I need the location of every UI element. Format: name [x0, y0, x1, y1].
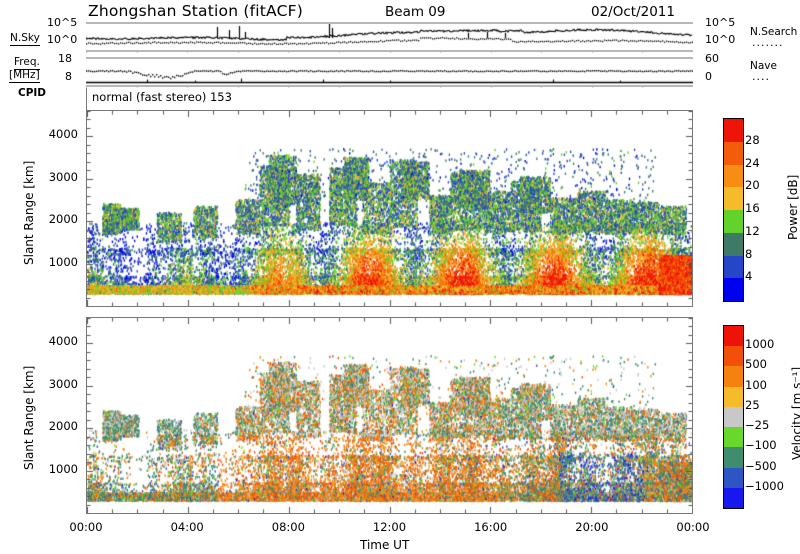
freq-left-label-line2: [MHz] [9, 69, 40, 83]
velocity-colorbar-title: Velocity [m s⁻¹] [790, 367, 800, 460]
nsky-panel [86, 22, 693, 52]
power-colorbar-label: 28 [745, 133, 760, 147]
power-ytick-2000: 2000 [49, 212, 78, 226]
beam-label: Beam 09 [385, 4, 445, 20]
nave-tick-bottom: 0 [705, 70, 712, 83]
power-ytick-labels: 4000300020001000 [38, 110, 82, 307]
page-title: Zhongshan Station (fitACF) [88, 2, 303, 20]
power-colorbar-labels: 282420161284 [723, 118, 783, 300]
power-ytick-3000: 3000 [49, 170, 78, 184]
time-tick-1200: 12:00 [364, 520, 416, 534]
time-axis-ticks: 00:0004:0008:0012:0016:0020:0000:00 [0, 520, 800, 536]
cpid-divider [86, 88, 87, 110]
power-colorbar-label: 16 [745, 201, 760, 215]
date-label: 02/Oct/2011 [591, 4, 675, 20]
nave-linestyle-sample: .... [752, 70, 770, 83]
time-tick-0400: 04:00 [161, 520, 213, 534]
time-tick-1600: 16:00 [465, 520, 517, 534]
nsky-left-label: N.Sky [10, 32, 40, 46]
velocity-ytick-labels: 4000300020001000 [38, 317, 82, 514]
velocity-colorbar-label: 500 [745, 357, 767, 371]
velocity-colorbar-label: 100 [745, 378, 767, 392]
nsearch-tick-top: 10^5 [705, 16, 735, 29]
cpid-text: normal (fast stereo) 153 [92, 90, 232, 104]
power-colorbar-label: 20 [745, 178, 760, 192]
velocity-colorbar-labels: 100050010025−25−100−500−1000 [723, 325, 793, 507]
nsky-tick-top: 10^5 [47, 16, 77, 29]
time-tick-0000: 00:00 [667, 520, 719, 534]
power-colorbar-title: Power [dB] [786, 175, 800, 240]
velocity-colorbar-label: 1000 [745, 337, 774, 351]
velocity-ytick-3000: 3000 [49, 377, 78, 391]
power-panel [86, 110, 693, 307]
velocity-ytick-4000: 4000 [49, 334, 78, 348]
nsky-tick-bottom: 10^0 [47, 33, 77, 46]
power-colorbar-label: 8 [745, 247, 752, 261]
nsearch-linestyle-sample: ....... [752, 36, 783, 49]
freq-tick-bottom: 8 [65, 70, 72, 83]
velocity-colorbar-label: −25 [745, 418, 769, 432]
time-tick-0800: 08:00 [262, 520, 314, 534]
radar-summary-plot: Zhongshan Station (fitACF) Beam 09 02/Oc… [0, 0, 800, 554]
velocity-colorbar-label: −500 [745, 459, 777, 473]
time-tick-2000: 20:00 [566, 520, 618, 534]
power-ylabel: Slant Range [km] [22, 161, 36, 265]
velocity-panel [86, 317, 693, 514]
time-axis-label: Time UT [360, 538, 409, 552]
freq-left-label-line1: Freq. [14, 56, 40, 70]
power-ytick-4000: 4000 [49, 127, 78, 141]
power-colorbar-label: 12 [745, 224, 760, 238]
power-ytick-1000: 1000 [49, 255, 78, 269]
cpid-left-label: CPID [18, 87, 46, 99]
velocity-colorbar-label: −1000 [745, 479, 784, 493]
freq-tick-top: 18 [58, 52, 72, 65]
velocity-ytick-2000: 2000 [49, 419, 78, 433]
power-colorbar-label: 4 [745, 269, 752, 283]
nsearch-tick-bottom: 10^0 [705, 33, 735, 46]
power-colorbar-label: 24 [745, 156, 760, 170]
time-tick-0000: 00:00 [60, 520, 112, 534]
freq-panel [86, 57, 693, 87]
velocity-ylabel: Slant Range [km] [22, 366, 36, 470]
velocity-ytick-1000: 1000 [49, 462, 78, 476]
velocity-colorbar-label: −100 [745, 438, 777, 452]
nave-tick-top: 60 [705, 52, 719, 65]
velocity-colorbar-label: 25 [745, 398, 760, 412]
